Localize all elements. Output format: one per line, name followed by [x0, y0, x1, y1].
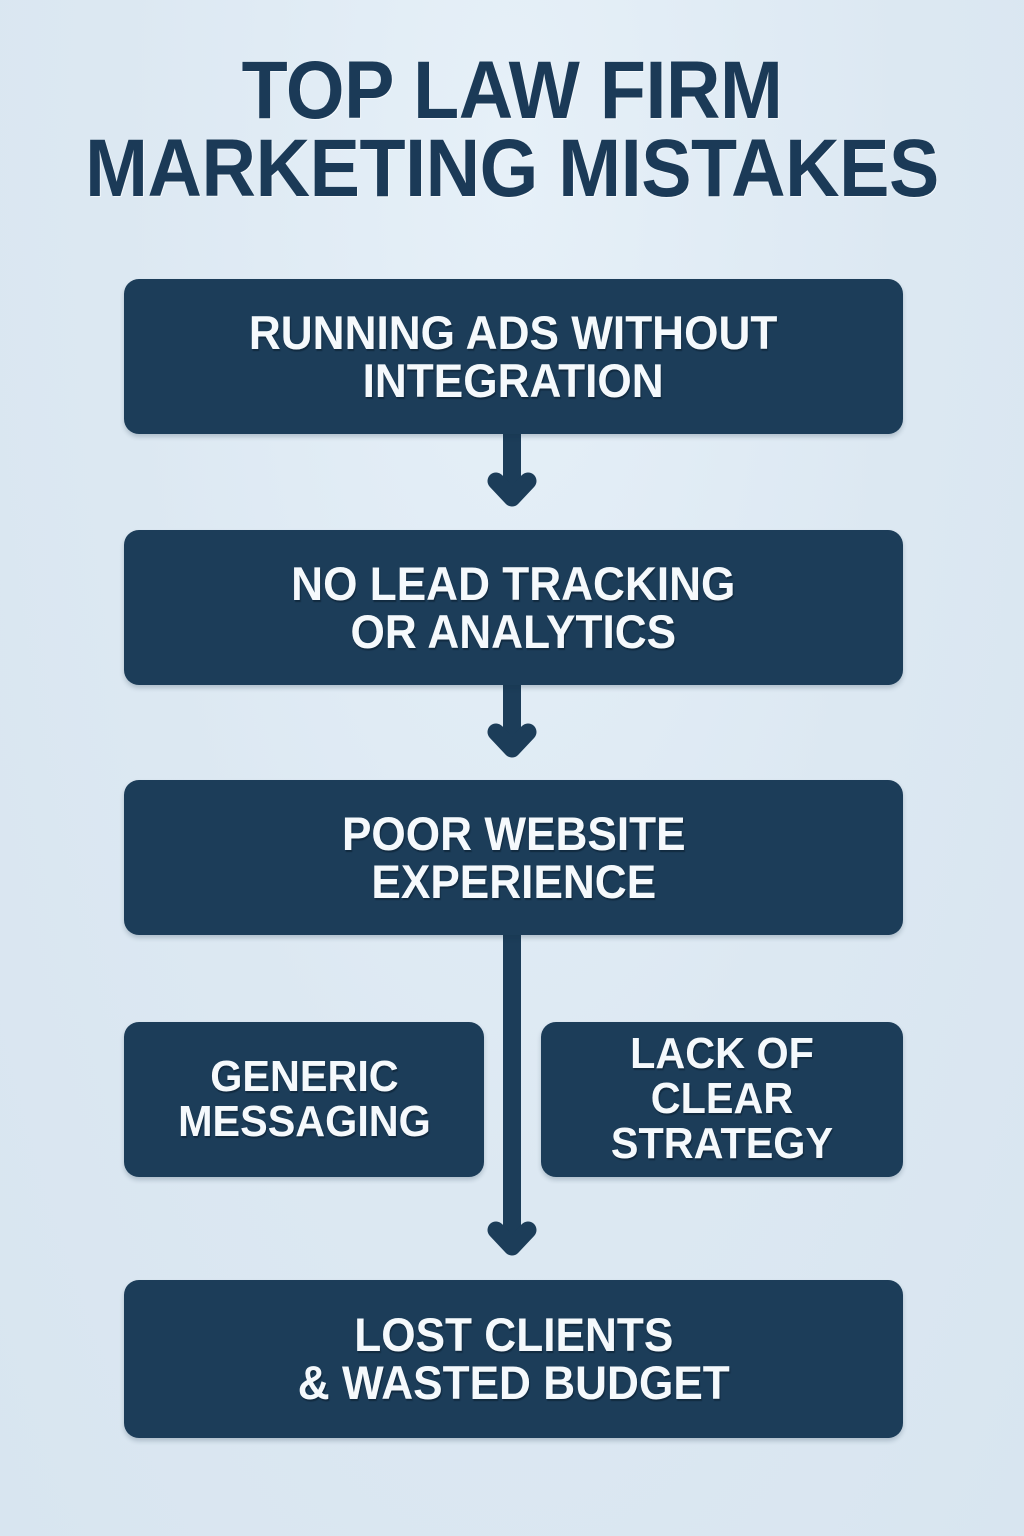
flow-node-no-lead-tracking-or-analytics[interactable]: NO LEAD TRACKING OR ANALYTICS	[124, 530, 903, 685]
connector-line-3	[503, 933, 521, 1244]
arrow-down-icon-3	[487, 1225, 537, 1255]
flow-node-label: GENERIC MESSAGING	[164, 1055, 443, 1145]
flow-node-lost-clients-and-wasted-budget[interactable]: LOST CLIENTS & WASTED BUDGET	[124, 1280, 903, 1438]
title-line-1: TOP LAW FIRM	[41, 52, 983, 130]
arrow-down-icon-1	[487, 476, 537, 506]
flow-node-label: POOR WEBSITE EXPERIENCE	[329, 810, 699, 906]
flow-node-lack-of-clear-strategy[interactable]: LACK OF CLEAR STRATEGY	[541, 1022, 903, 1177]
title-line-2: MARKETING MISTAKES	[41, 130, 983, 208]
flow-node-label: LACK OF CLEAR STRATEGY	[552, 1032, 892, 1167]
flow-node-label: LOST CLIENTS & WASTED BUDGET	[284, 1311, 742, 1407]
infographic-canvas: TOP LAW FIRM MARKETING MISTAKES RUNNING …	[0, 0, 1024, 1536]
arrow-down-icon-2	[487, 727, 537, 757]
flow-node-label: RUNNING ADS WITHOUT INTEGRATION	[236, 309, 791, 405]
flow-node-generic-messaging[interactable]: GENERIC MESSAGING	[124, 1022, 484, 1177]
page-title: TOP LAW FIRM MARKETING MISTAKES	[41, 52, 983, 208]
flow-node-label: NO LEAD TRACKING OR ANALYTICS	[278, 560, 749, 656]
flow-node-poor-website-experience[interactable]: POOR WEBSITE EXPERIENCE	[124, 780, 903, 935]
flow-node-running-ads-without-integration[interactable]: RUNNING ADS WITHOUT INTEGRATION	[124, 279, 903, 434]
